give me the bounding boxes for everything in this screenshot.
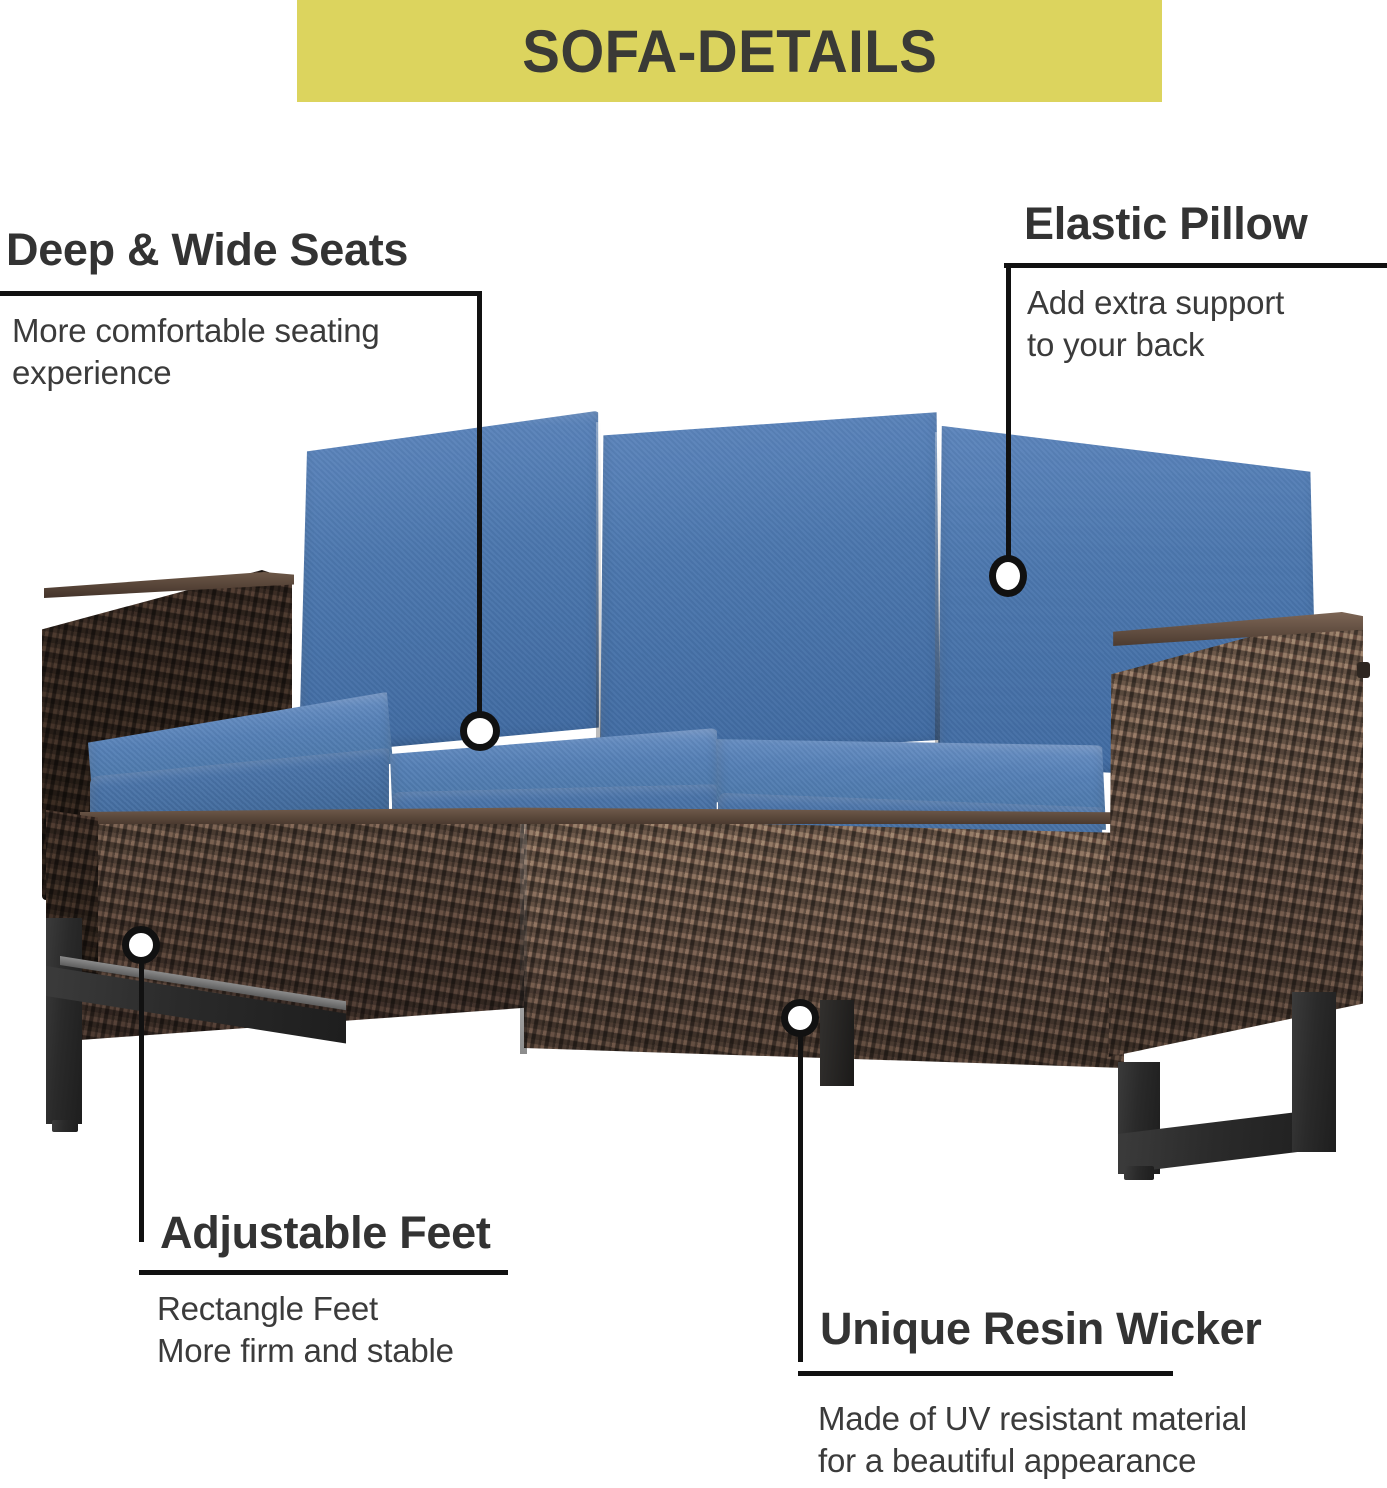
back-cushion-seam-2	[935, 432, 940, 762]
page-title: SOFA-DETAILS	[522, 17, 937, 86]
callout-rule-adjustable-feet	[139, 1270, 508, 1275]
callout-heading-elastic-pillow: Elastic Pillow	[1024, 198, 1307, 250]
callout-rule-deep-wide-seats	[0, 291, 482, 296]
marker-resin-wicker	[781, 999, 819, 1037]
sofa-illustration	[0, 380, 1387, 1200]
callout-body-adjustable-feet-line1: Rectangle Feet	[157, 1288, 378, 1329]
callout-stem-resin-wicker	[798, 1035, 803, 1362]
product-detail-infographic: SOFA-DETAILS	[0, 0, 1387, 1488]
callout-body-elastic-pillow-line1: Add extra support	[1027, 282, 1284, 323]
callout-heading-adjustable-feet: Adjustable Feet	[160, 1207, 491, 1259]
leg-center-rear	[820, 1000, 854, 1086]
callout-stem-deep-wide-seats	[477, 291, 482, 721]
leg-left-vertical	[46, 918, 82, 1124]
base-panel-seam	[520, 818, 527, 1054]
marker-adjustable-feet	[122, 926, 160, 964]
header-banner: SOFA-DETAILS	[297, 0, 1162, 102]
callout-body-adjustable-feet-line2: More firm and stable	[157, 1330, 454, 1371]
callout-body-elastic-pillow-line2: to your back	[1027, 324, 1204, 365]
callout-stem-adjustable-feet	[139, 962, 144, 1242]
callout-body-deep-wide-seats-line2: experience	[12, 352, 171, 393]
armrest-hardware-nub	[1357, 662, 1370, 678]
leg-left-foot	[52, 1120, 78, 1132]
back-cushion-seam-1	[596, 422, 601, 752]
callout-heading-resin-wicker: Unique Resin Wicker	[820, 1303, 1262, 1355]
right-armrest	[1098, 612, 1363, 1057]
leg-right-foot	[1124, 1166, 1154, 1180]
callout-body-resin-wicker-line2: for a beautiful appearance	[818, 1440, 1196, 1481]
callout-rule-resin-wicker	[798, 1371, 1173, 1376]
marker-back-pillow	[989, 555, 1027, 597]
callout-stem-elastic-pillow	[1006, 263, 1011, 575]
callout-body-resin-wicker-line1: Made of UV resistant material	[818, 1398, 1247, 1439]
leg-right-vertical-far	[1292, 992, 1336, 1152]
back-cushion-center	[600, 405, 940, 759]
callout-heading-deep-wide-seats: Deep & Wide Seats	[6, 224, 408, 276]
callout-body-deep-wide-seats-line1: More comfortable seating	[12, 310, 380, 351]
marker-seat-cushion	[460, 711, 500, 751]
callout-rule-elastic-pillow	[1004, 263, 1387, 268]
